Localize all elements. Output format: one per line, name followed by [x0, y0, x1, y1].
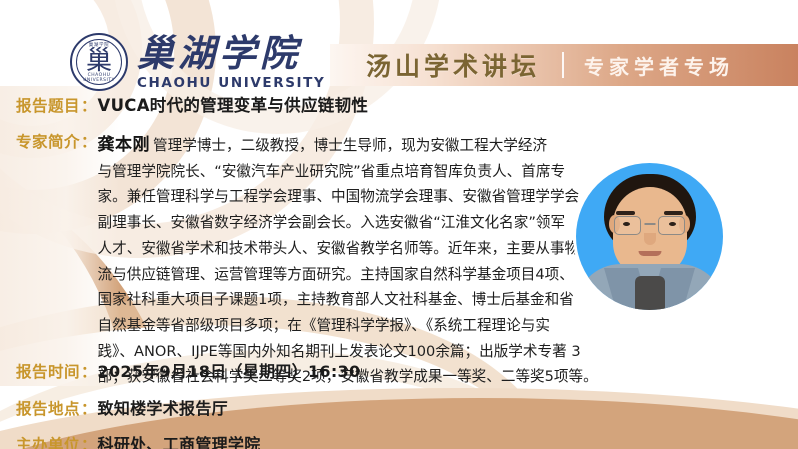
- organizer-label: 主办单位: [16, 433, 80, 449]
- speaker-bio-text: 龚本刚 管理学博士，二级教授，博士生导师，现为安徽工程大学经济 与管理学院院长、…: [98, 130, 598, 390]
- report-title-value: VUCA时代的管理变革与供应链韧性: [98, 92, 369, 116]
- report-place-row: 报告地点 ： 致知楼学术报告厅: [16, 395, 228, 419]
- poster-header: 巢湖学院 巢 CHAOHU UNIVERSITY 巢湖学院 CHAOHU UNI…: [0, 0, 798, 86]
- banner-subtitle: 专家学者专场: [584, 51, 734, 80]
- bio-line: 国家社科重大项目子课题1项，主持教育部人文社科基金、博士后基金和省: [98, 287, 598, 313]
- university-seal-icon: 巢湖学院 巢 CHAOHU UNIVERSITY: [70, 33, 128, 91]
- organizer-row: 主办单位 ： 科研处、工商管理学院: [16, 431, 261, 449]
- speaker-bio-row: 专家简介 ： 龚本刚 管理学博士，二级教授，博士生导师，现为安徽工程大学经济 与…: [16, 130, 598, 390]
- banner-divider: [562, 52, 564, 78]
- portrait-glasses-bridge: [644, 223, 655, 225]
- university-name-cn: 巢湖学院: [137, 34, 325, 73]
- portrait-nose: [644, 233, 656, 245]
- speaker-bio-first-line: 龚本刚 管理学博士，二级教授，博士生导师，现为安徽工程大学经济: [98, 130, 598, 159]
- portrait-eye-right: [669, 222, 676, 226]
- portrait-mouth: [638, 251, 661, 256]
- seal-center-glyph: 巢: [86, 48, 112, 74]
- banner-main-title: 汤山学术讲坛: [366, 47, 540, 83]
- report-time-colon: ：: [81, 360, 97, 382]
- bio-line: 流与供应链管理、运营管理等方面研究。主持国家自然科学基金项目4项、: [98, 262, 598, 288]
- speaker-name: 龚本刚: [98, 130, 151, 155]
- report-time-label: 报告时间: [16, 360, 80, 382]
- seal-arc-bottom-text: CHAOHU UNIVERSITY: [72, 73, 126, 83]
- speaker-bio-label: 专家简介: [16, 130, 80, 152]
- portrait-shirt: [635, 276, 665, 310]
- report-place-label: 报告地点: [16, 397, 80, 419]
- bio-line: 人才、安徽省学术和技术带头人、安徽省教学名师等。近年来，主要从事物: [98, 236, 598, 262]
- report-time-value: 2025年9月18日（星期四）16:30: [98, 358, 361, 382]
- portrait-brow-left: [616, 211, 635, 215]
- bio-line: 管理学博士，二级教授，博士生导师，现为安徽工程大学经济: [153, 133, 547, 159]
- bio-line: 副理事长、安徽省数字经济学会副会长。入选安徽省“江淮文化名家”领军: [98, 210, 598, 236]
- report-place-value: 致知楼学术报告厅: [98, 395, 228, 419]
- speaker-bio-colon: ：: [81, 130, 97, 152]
- organizer-value: 科研处、工商管理学院: [98, 431, 261, 449]
- event-series-banner: 汤山学术讲坛 专家学者专场: [330, 44, 798, 86]
- bio-line: 自然基金等省部级项目多项；在《管理科学学报》、《系统工程理论与实: [98, 313, 598, 339]
- bio-line: 与管理学院院长、“安徽汽车产业研究院”省重点培育智库负责人、首席专: [98, 159, 598, 185]
- portrait-brow-right: [664, 211, 683, 215]
- bio-line: 家。兼任管理科学与工程学会理事、中国物流学会理事、安徽省管理学学会: [98, 184, 598, 210]
- seminar-poster: 巢湖学院 巢 CHAOHU UNIVERSITY 巢湖学院 CHAOHU UNI…: [0, 0, 798, 449]
- report-time-row: 报告时间 ： 2025年9月18日（星期四）16:30: [16, 358, 360, 382]
- report-title-label: 报告题目: [16, 94, 80, 116]
- report-title-colon: ：: [81, 94, 97, 116]
- organizer-colon: ：: [81, 433, 97, 449]
- university-wordmark: 巢湖学院 CHAOHU UNIVERSITY: [137, 34, 325, 91]
- speaker-portrait: [576, 163, 723, 310]
- university-logo-group: 巢湖学院 巢 CHAOHU UNIVERSITY 巢湖学院 CHAOHU UNI…: [70, 33, 325, 91]
- report-place-colon: ：: [81, 397, 97, 419]
- report-title-row: 报告题目 ： VUCA时代的管理变革与供应链韧性: [16, 92, 368, 116]
- portrait-eye-left: [623, 222, 630, 226]
